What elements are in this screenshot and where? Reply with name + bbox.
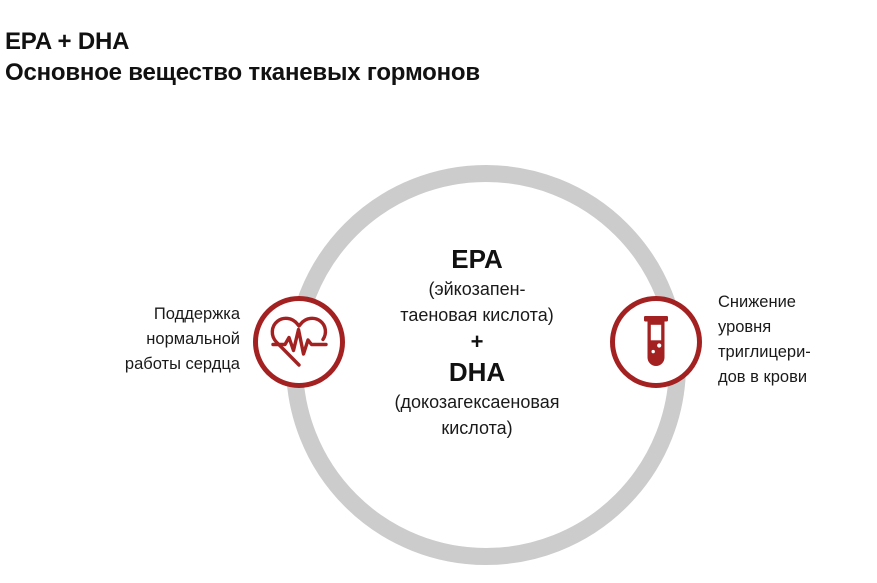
epa-dha-diagram: Поддержка нормальной работы сердца xyxy=(0,0,877,583)
right-caption-line-3: триглицери- xyxy=(718,340,877,365)
dha-expansion-line-1: (докозагексаеновая xyxy=(297,389,657,415)
plus-separator: + xyxy=(297,328,657,356)
left-caption-line-2: нормальной xyxy=(68,327,240,352)
dha-expansion-line-2: кислота) xyxy=(297,415,657,441)
epa-expansion-line-2: таеновая кислота) xyxy=(297,302,657,328)
left-node-caption: Поддержка нормальной работы сердца xyxy=(68,302,240,377)
right-caption-line-2: уровня xyxy=(718,315,877,340)
epa-expansion-line-1: (эйкозапен- xyxy=(297,276,657,302)
right-caption-line-4: дов в крови xyxy=(718,365,877,390)
right-node-caption: Снижение уровня триглицери- дов в крови xyxy=(718,290,877,390)
acronym-epa: EPA xyxy=(297,243,657,276)
left-caption-line-3: работы сердца xyxy=(68,352,240,377)
right-caption-line-1: Снижение xyxy=(718,290,877,315)
center-text-block: EPA (эйкозапен- таеновая кислота) + DHA … xyxy=(297,243,657,441)
acronym-dha: DHA xyxy=(297,356,657,389)
left-caption-line-1: Поддержка xyxy=(68,302,240,327)
